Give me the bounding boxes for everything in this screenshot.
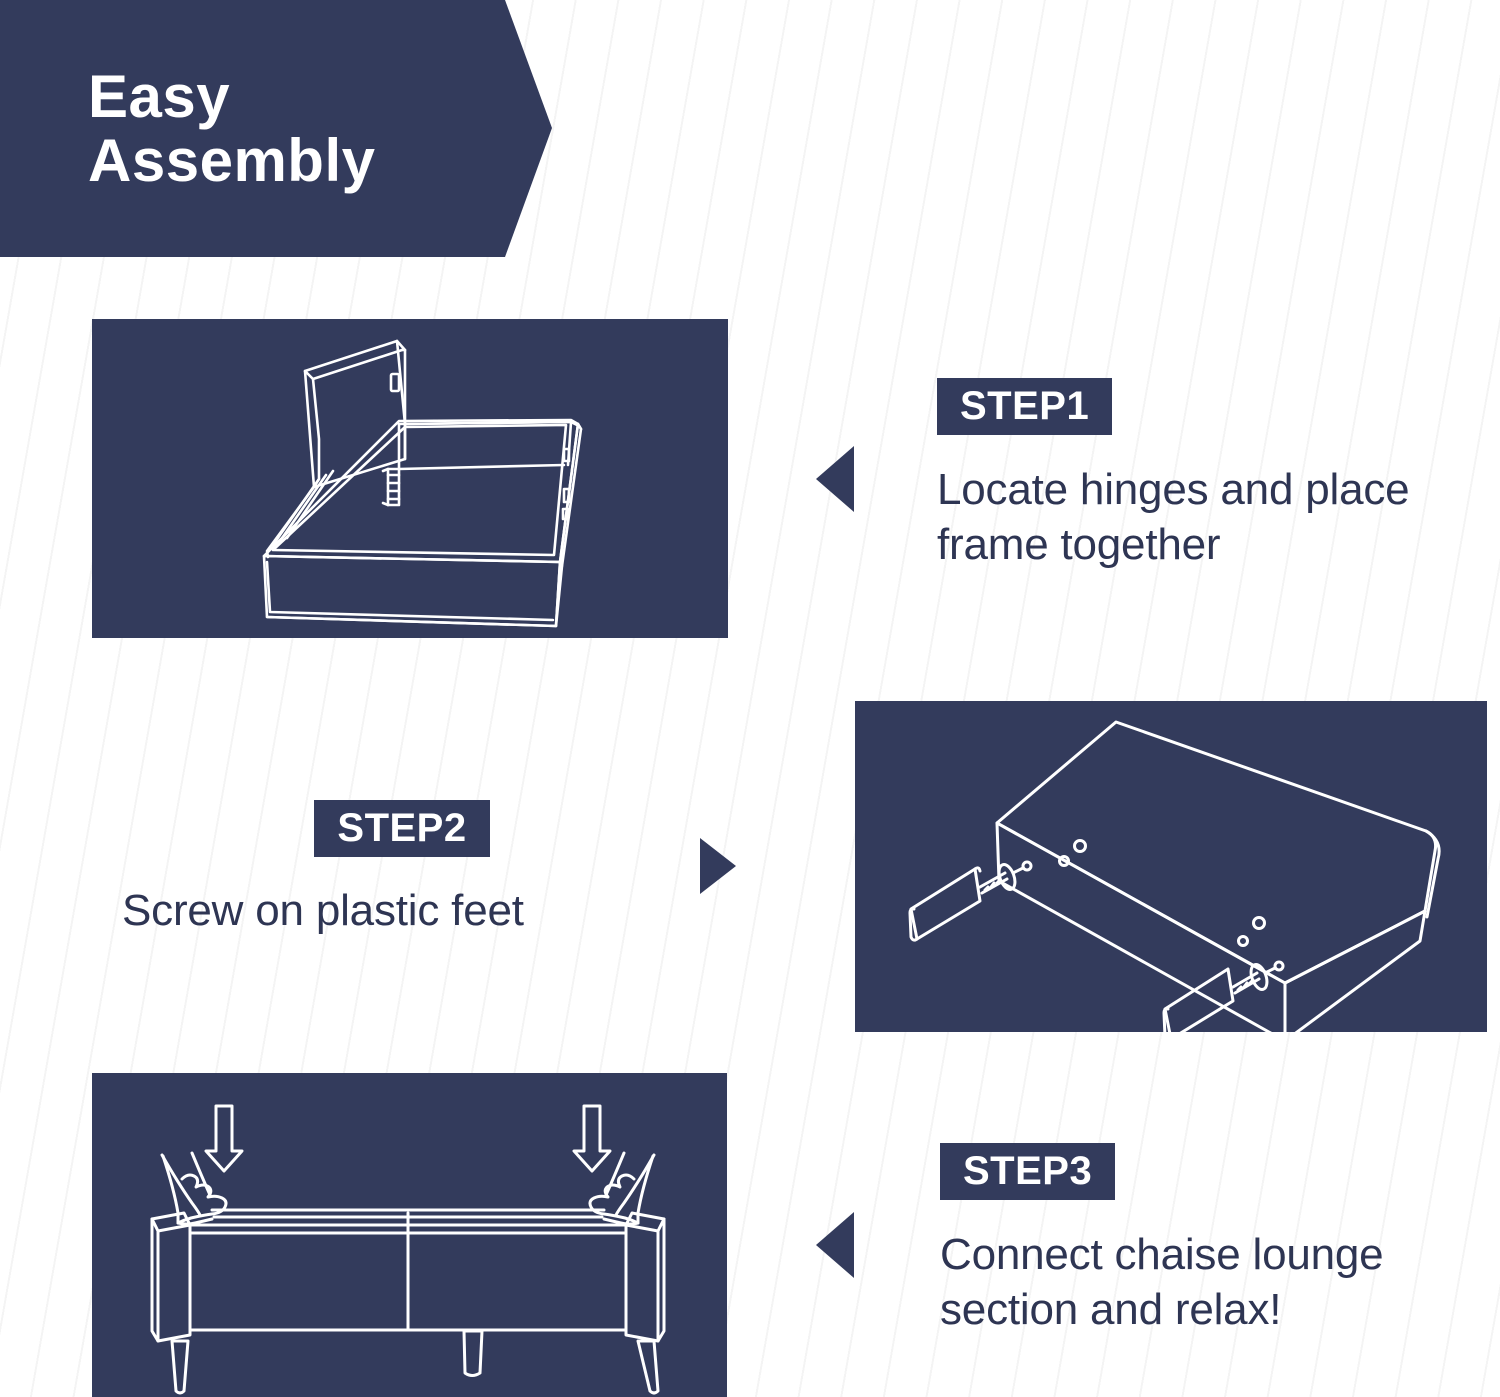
step3-description: Connect chaise lounge section and relax!: [940, 1227, 1485, 1338]
step2-description: Screw on plastic feet: [122, 883, 682, 938]
step3-badge-wrap: STEP3: [940, 1143, 1485, 1200]
arrow-left-icon-step1: [816, 446, 854, 512]
step-block-2: STEP2 Screw on plastic feet: [122, 800, 682, 938]
step1-badge-wrap: STEP1: [937, 378, 1482, 435]
assembly-instructions-page: Easy Assembly: [0, 0, 1500, 1397]
triangle-right-shape: [700, 838, 736, 894]
illustration-panel-step2: [855, 701, 1487, 1032]
step-block-3: STEP3 Connect chaise lounge section and …: [940, 1143, 1485, 1338]
illustration-panel-step1: [92, 319, 728, 638]
step1-description: Locate hinges and place frame together: [937, 462, 1482, 573]
triangle-left-shape: [816, 1212, 854, 1278]
step2-badge: STEP2: [314, 800, 489, 857]
triangle-left-shape: [816, 446, 854, 512]
arrow-left-icon-step3: [816, 1212, 854, 1278]
header-banner: Easy Assembly: [0, 0, 552, 257]
step3-badge: STEP3: [940, 1143, 1115, 1200]
step2-badge-wrap: STEP2: [122, 800, 682, 857]
illustration-panel-step3: [92, 1073, 727, 1397]
page-title: Easy Assembly: [0, 65, 375, 192]
step-block-1: STEP1 Locate hinges and place frame toge…: [937, 378, 1482, 573]
step1-badge: STEP1: [937, 378, 1112, 435]
arrow-right-icon-step2: [700, 838, 736, 894]
